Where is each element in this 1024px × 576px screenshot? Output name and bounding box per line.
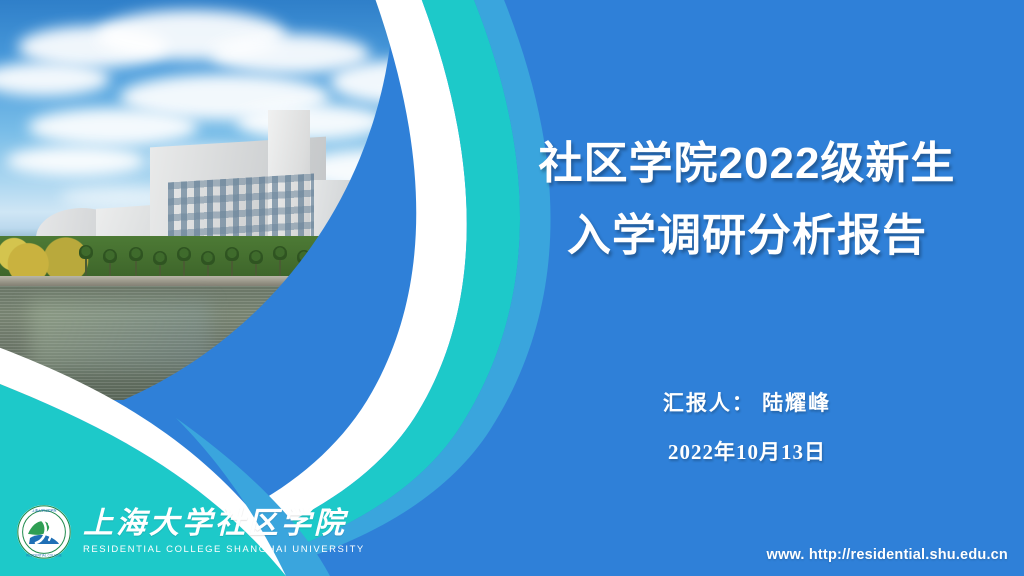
title-line-2: 入学调研分析报告: [470, 200, 1024, 272]
palm-tree: [224, 244, 240, 278]
cloud-shape: [236, 104, 386, 140]
organization-logo: 上海大学社区学院 RESIDENTIAL COLLEGE 上海大学社区学院 RE…: [16, 504, 365, 560]
org-name-cn: 上海大学社区学院: [83, 509, 365, 539]
cloud-shape: [6, 146, 146, 176]
slide-title: 社区学院2022级新生 入学调研分析报告: [470, 128, 1024, 272]
org-name-en: RESIDENTIAL COLLEGE SHANGHAI UNIVERSITY: [83, 545, 365, 555]
palm-tree: [128, 244, 144, 278]
palm-tree: [272, 243, 288, 277]
website-url[interactable]: www. http://residential.shu.edu.cn: [766, 547, 1008, 563]
palm-tree: [368, 245, 384, 279]
svg-text:RESIDENTIAL COLLEGE: RESIDENTIAL COLLEGE: [26, 554, 62, 558]
cloud-shape: [28, 108, 198, 146]
college-seal-icon: 上海大学社区学院 RESIDENTIAL COLLEGE: [16, 504, 72, 560]
photo-lake-reflection: [30, 300, 210, 370]
palm-tree: [176, 244, 192, 278]
presentation-date: 2022年10月13日: [470, 438, 1024, 466]
cloud-shape: [330, 60, 470, 104]
palm-tree: [78, 242, 94, 276]
organization-name: 上海大学社区学院 RESIDENTIAL COLLEGE SHANGHAI UN…: [83, 509, 365, 555]
title-line-1: 社区学院2022级新生: [470, 128, 1024, 200]
palm-tree: [416, 245, 432, 279]
presenter-block: 汇报人： 陆耀峰 2022年10月13日: [470, 388, 1024, 466]
svg-text:上海大学社区学院: 上海大学社区学院: [32, 507, 57, 512]
palm-tree: [102, 246, 118, 280]
palm-tree: [320, 244, 336, 278]
presentation-slide: 社区学院2022级新生 入学调研分析报告 汇报人： 陆耀峰 2022年10月13…: [0, 0, 1024, 576]
presenter-name: 汇报人： 陆耀峰: [470, 388, 1024, 418]
campus-photo: [0, 0, 470, 400]
